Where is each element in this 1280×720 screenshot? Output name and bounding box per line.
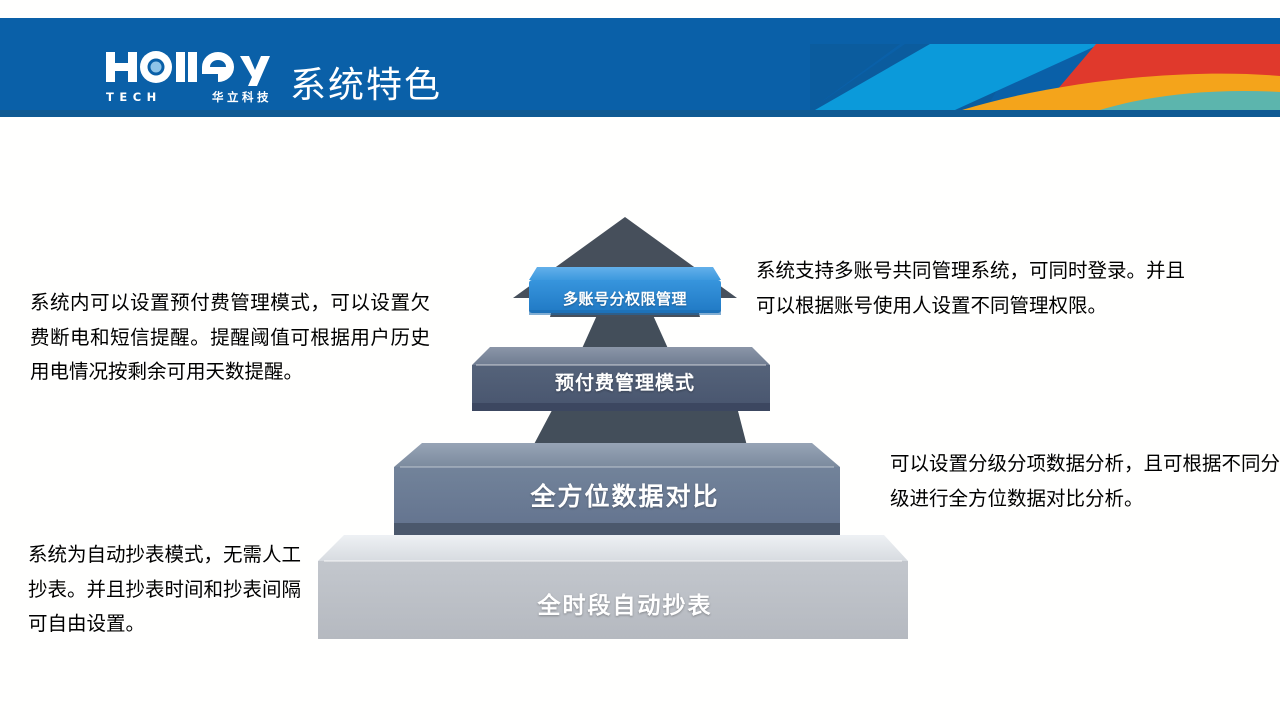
callout-data-comparison: 可以设置分级分项数据分析，且可根据不同分级进行全方位数据对比分析。 — [890, 447, 1280, 516]
pyramid-tier-1[interactable] — [529, 267, 721, 315]
holley-wordmark-icon — [104, 48, 274, 88]
pyramid-tier-4[interactable] — [318, 535, 908, 639]
header-bar: TECH 华立科技 系统特色 — [0, 18, 1280, 110]
callout-auto-meter-reading: 系统为自动抄表模式，无需人工抄表。并且抄表时间和抄表间隔可自由设置。 — [28, 538, 318, 642]
header-swoosh-graphic — [810, 18, 1280, 110]
pyramid-tier-3[interactable] — [394, 443, 840, 535]
callout-multi-account: 系统支持多账号共同管理系统，可同时登录。并且可以根据账号使用人设置不同管理权限。 — [756, 254, 1188, 323]
page-title: 系统特色 — [290, 64, 442, 107]
logo-sub-latin: TECH — [106, 92, 162, 104]
holley-logo-subtitle: TECH 华立科技 — [106, 90, 272, 106]
pyramid-tier-2[interactable] — [472, 347, 770, 411]
holley-logo: TECH 华立科技 — [104, 48, 274, 108]
header-underline — [0, 110, 1280, 117]
logo-sub-cjk: 华立科技 — [212, 92, 272, 104]
callout-prepaid-management: 系统内可以设置预付费管理模式，可以设置欠费断电和短信提醒。提醒阈值可根据用户历史… — [30, 286, 430, 390]
